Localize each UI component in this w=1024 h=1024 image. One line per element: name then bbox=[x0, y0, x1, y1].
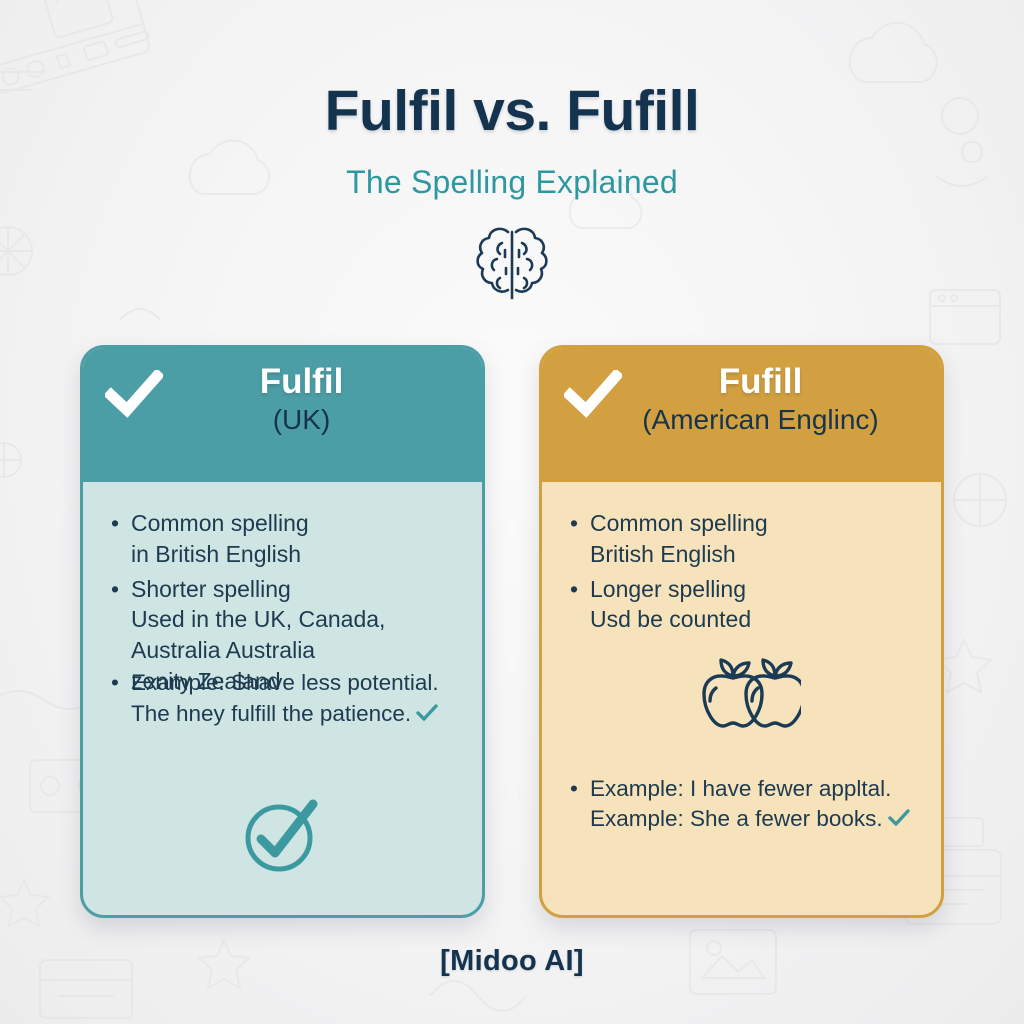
page-title: Fulfil vs. Fufill bbox=[0, 78, 1024, 144]
brain-icon-container bbox=[0, 223, 1024, 312]
card-fulfil-uk[interactable]: Fulfil (UK) Common spelling in British E… bbox=[80, 345, 485, 918]
two-apples-icon bbox=[683, 650, 801, 747]
card-uk-variant: (UK) bbox=[121, 403, 482, 437]
check-icon bbox=[887, 806, 911, 837]
comparison-cards: Fulfil (UK) Common spelling in British E… bbox=[0, 345, 1024, 918]
bullet-line: Shorter spelling bbox=[131, 576, 291, 602]
card-uk-word: Fulfil bbox=[121, 362, 482, 401]
card-uk-footer-icon-container bbox=[83, 798, 482, 879]
bullet-line: Australia Australia bbox=[131, 635, 462, 666]
example-line-1: Example: Shave less potential. bbox=[109, 668, 466, 699]
example-line-1: Example: I have fewer appltal. bbox=[568, 774, 925, 805]
card-uk-body: Common spelling in British English Short… bbox=[83, 482, 482, 915]
card-uk-example: Example: Shave less potential. The hney … bbox=[109, 668, 466, 731]
card-us-example: Example: I have fewer appltal. Example: … bbox=[568, 774, 925, 837]
bullet-line: Longer spelling bbox=[590, 576, 746, 602]
bullet-line: British English bbox=[590, 539, 921, 570]
card-us-body: Common spelling British English Longer s… bbox=[542, 482, 941, 915]
list-item: Common spelling in British English bbox=[131, 508, 462, 570]
example-line-2-wrap: Example: She a fewer books. bbox=[568, 804, 925, 837]
poster-header: Fulfil vs. Fufill The Spelling Explained bbox=[0, 0, 1024, 312]
bullet-line: Common spelling bbox=[131, 510, 309, 536]
card-us-header: Fufill (American Englinc) bbox=[542, 348, 941, 482]
card-us-illustration-container bbox=[542, 650, 941, 747]
list-item: Common spelling British English bbox=[590, 508, 921, 570]
card-us-bullet-list: Common spelling British English Longer s… bbox=[568, 508, 921, 635]
card-fufill-us[interactable]: Fufill (American Englinc) Common spellin… bbox=[539, 345, 944, 918]
bullet-line: Used in the UK, Canada, bbox=[131, 604, 462, 635]
infographic-poster: Fulfil vs. Fufill The Spelling Explained bbox=[0, 0, 1024, 1024]
brain-icon bbox=[475, 223, 549, 312]
poster-footer: [Midoo AI] bbox=[0, 945, 1024, 978]
list-item: Longer spelling Usd be counted bbox=[590, 574, 921, 636]
page-subtitle: The Spelling Explained bbox=[0, 164, 1024, 201]
check-icon bbox=[105, 370, 163, 418]
card-us-variant: (American Englinc) bbox=[580, 403, 941, 437]
bullet-line: in British English bbox=[131, 539, 462, 570]
card-us-word: Fufill bbox=[580, 362, 941, 401]
bullet-line: Common spelling bbox=[590, 510, 768, 536]
example-line-2: The hney fulfill the patience. bbox=[131, 701, 411, 726]
card-uk-header: Fulfil (UK) bbox=[83, 348, 482, 482]
example-line-2-wrap: The hney fulfill the patience. bbox=[109, 699, 466, 732]
circle-check-icon bbox=[239, 798, 327, 879]
brand-label: [Midoo AI] bbox=[440, 945, 584, 977]
bullet-line: Usd be counted bbox=[590, 604, 921, 635]
example-line-2: Example: She a fewer books. bbox=[590, 806, 883, 831]
check-icon bbox=[415, 701, 439, 732]
check-icon bbox=[564, 370, 622, 418]
